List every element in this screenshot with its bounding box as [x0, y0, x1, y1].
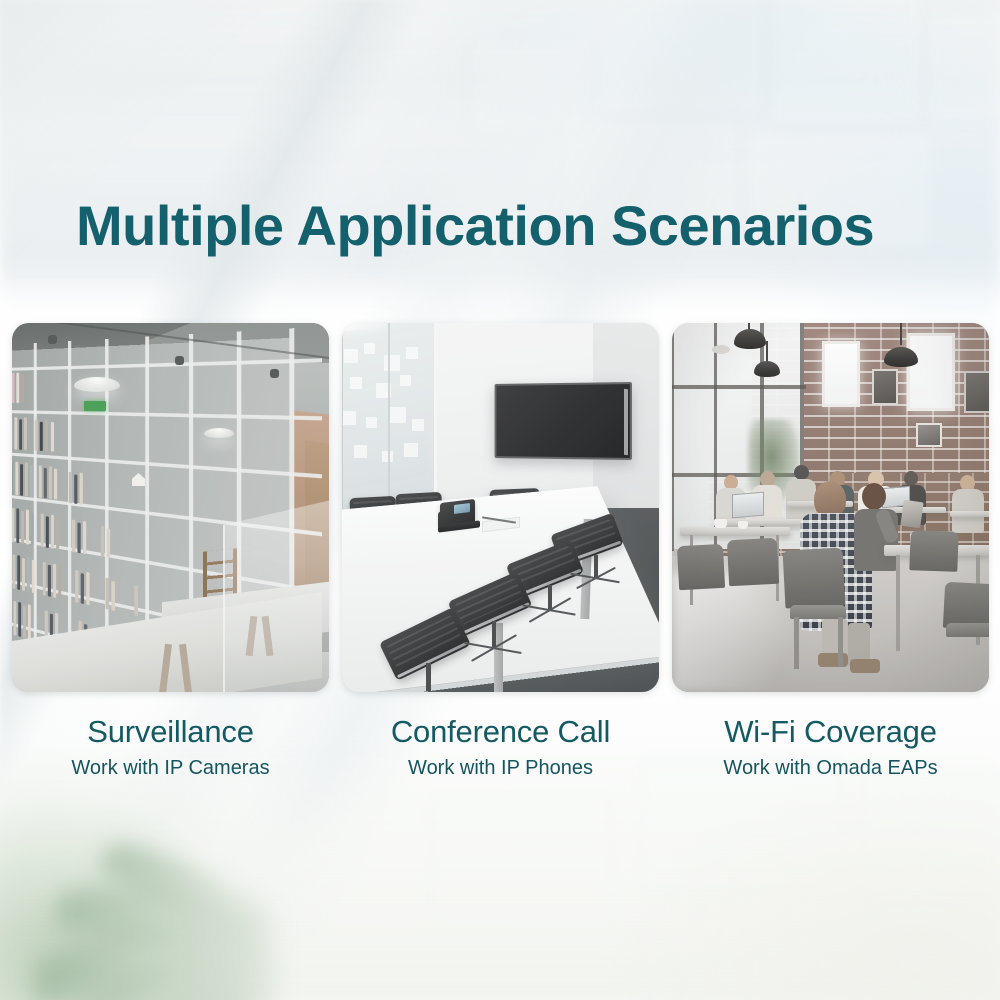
scenario-card-wifi-coverage[interactable]: Wi-Fi Coverage Work with Omada EAPs [672, 323, 989, 781]
background-right-haze [620, 780, 1000, 1000]
scenarios-banner: Multiple Application Scenarios [0, 0, 1000, 1000]
wifi-subtitle: Work with Omada EAPs [672, 751, 989, 781]
page-title: Multiple Application Scenarios [76, 196, 874, 256]
wifi-caption: Wi-Fi Coverage Work with Omada EAPs [672, 692, 989, 781]
conference-caption: Conference Call Work with IP Phones [342, 692, 659, 781]
conference-photo [342, 323, 659, 692]
conference-subtitle: Work with IP Phones [342, 751, 659, 781]
scenario-card-conference-call[interactable]: Conference Call Work with IP Phones [342, 323, 659, 781]
conference-title: Conference Call [342, 714, 659, 751]
scenario-card-list: Surveillance Work with IP Cameras [12, 323, 988, 781]
wifi-title: Wi-Fi Coverage [672, 714, 989, 751]
surveillance-title: Surveillance [12, 714, 329, 751]
cafe-photo [672, 323, 989, 692]
surveillance-caption: Surveillance Work with IP Cameras [12, 692, 329, 781]
scenario-card-surveillance[interactable]: Surveillance Work with IP Cameras [12, 323, 329, 781]
conference-tone-overlay [342, 323, 659, 692]
library-tone-overlay [12, 323, 329, 692]
cafe-tone-overlay [672, 323, 989, 692]
surveillance-photo [12, 323, 329, 692]
surveillance-subtitle: Work with IP Cameras [12, 751, 329, 781]
